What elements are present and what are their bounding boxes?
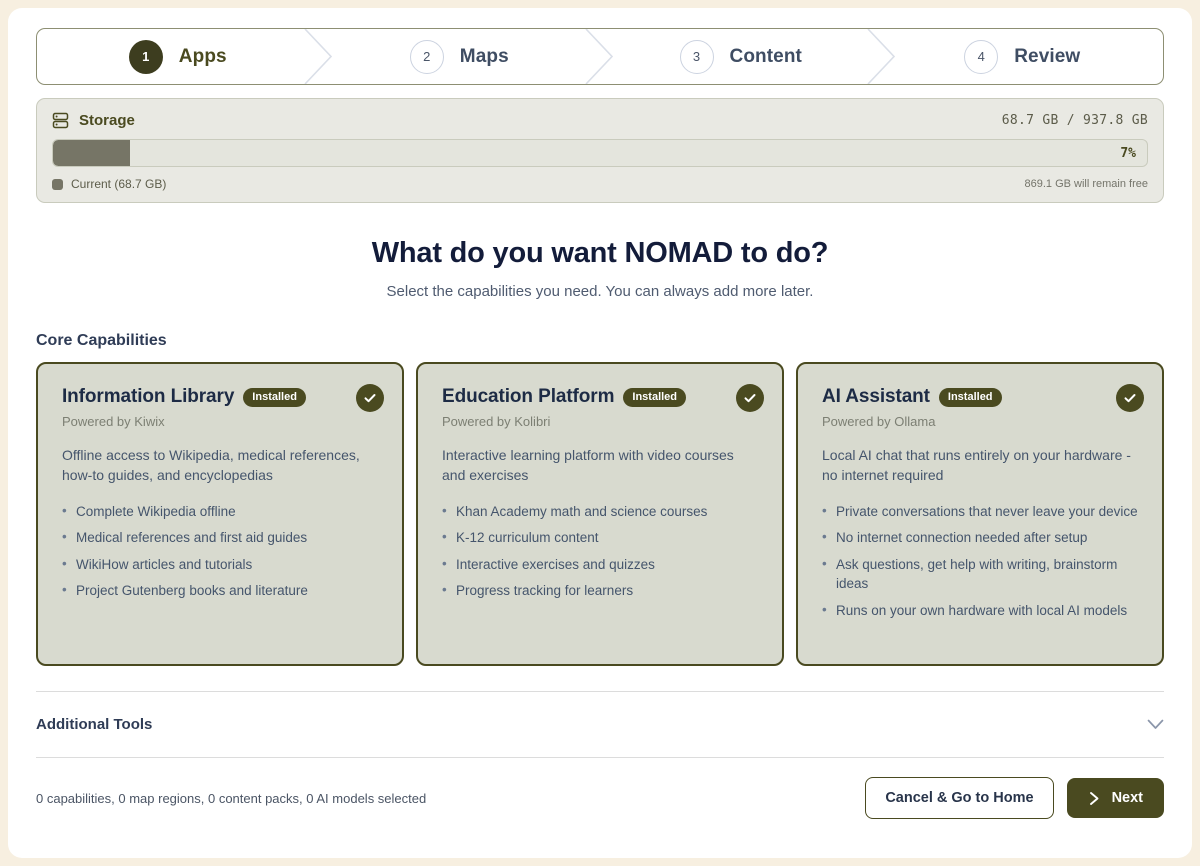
status-badge-installed: Installed [243,388,306,407]
step-label-review: Review [1014,46,1080,68]
card-description: Interactive learning platform with video… [442,446,760,486]
card-header: AI Assistant Installed [822,386,1140,408]
storage-title-group: Storage [52,112,135,129]
footer-button-group: Cancel & Go to Home Next [865,777,1164,819]
list-item: Interactive exercises and quizzes [442,555,760,575]
step-maps[interactable]: 2 Maps [319,29,601,84]
storage-percent-label: 7% [1120,146,1136,161]
card-description: Offline access to Wikipedia, medical ref… [62,446,380,486]
list-item: Complete Wikipedia offline [62,502,380,522]
list-item: Ask questions, get help with writing, br… [822,555,1140,594]
step-label-apps: Apps [179,46,227,68]
additional-tools-label: Additional Tools [36,716,152,733]
selected-check-badge[interactable] [1116,384,1144,412]
capability-card-ai-assistant[interactable]: AI Assistant Installed Powered by Ollama… [796,362,1164,666]
next-button-label: Next [1112,790,1143,806]
card-header: Information Library Installed [62,386,380,408]
capability-card-information-library[interactable]: Information Library Installed Powered by… [36,362,404,666]
selected-check-badge[interactable] [736,384,764,412]
storage-legend: Current (68.7 GB) [52,177,166,191]
check-icon [1122,390,1138,406]
step-label-content: Content [730,46,802,68]
card-description: Local AI chat that runs entirely on your… [822,446,1140,486]
next-button[interactable]: Next [1067,778,1164,818]
storage-panel: Storage 68.7 GB / 937.8 GB 7% Current (6… [36,98,1164,203]
legend-label-current: Current (68.7 GB) [71,177,166,191]
cancel-go-home-button[interactable]: Cancel & Go to Home [865,777,1053,819]
storage-progress-fill [53,140,130,166]
check-icon [742,390,758,406]
step-number-2: 2 [410,40,444,74]
capability-card-grid: Information Library Installed Powered by… [36,362,1164,666]
core-capabilities-heading: Core Capabilities [36,332,1164,350]
check-icon [362,390,378,406]
list-item: No internet connection needed after setu… [822,528,1140,548]
selection-summary: 0 capabilities, 0 map regions, 0 content… [36,791,426,806]
setup-wizard-panel: 1 Apps 2 Maps 3 Content 4 Rev [8,8,1192,858]
wizard-stepper: 1 Apps 2 Maps 3 Content 4 Rev [36,28,1164,85]
card-feature-list: Khan Academy math and science courses K-… [442,502,760,601]
legend-swatch-current [52,179,63,190]
step-number-4: 4 [964,40,998,74]
card-powered-by: Powered by Kiwix [62,414,380,429]
card-feature-list: Private conversations that never leave y… [822,502,1140,621]
step-apps[interactable]: 1 Apps [37,29,319,84]
status-badge-installed: Installed [939,388,1002,407]
additional-tools-accordion[interactable]: Additional Tools [36,691,1164,733]
storage-icon [52,112,69,129]
wizard-footer: 0 capabilities, 0 map regions, 0 content… [36,757,1164,819]
step-label-maps: Maps [460,46,509,68]
card-title: Education Platform [442,386,614,408]
list-item: WikiHow articles and tutorials [62,555,380,575]
card-powered-by: Powered by Ollama [822,414,1140,429]
list-item: Progress tracking for learners [442,581,760,601]
storage-header: Storage 68.7 GB / 937.8 GB [52,112,1148,129]
step-number-1: 1 [129,40,163,74]
list-item: Project Gutenberg books and literature [62,581,380,601]
step-number-3: 3 [680,40,714,74]
page-subtitle: Select the capabilities you need. You ca… [36,283,1164,300]
card-title: Information Library [62,386,234,408]
step-review[interactable]: 4 Review [882,29,1164,84]
page-title: What do you want NOMAD to do? [36,237,1164,270]
status-badge-installed: Installed [623,388,686,407]
list-item: K-12 curriculum content [442,528,760,548]
card-powered-by: Powered by Kolibri [442,414,760,429]
storage-remaining-text: 869.1 GB will remain free [1025,178,1149,190]
card-header: Education Platform Installed [442,386,760,408]
selected-check-badge[interactable] [356,384,384,412]
list-item: Medical references and first aid guides [62,528,380,548]
chevron-right-icon [1088,791,1101,806]
storage-title: Storage [79,112,135,129]
chevron-down-icon[interactable] [1147,719,1164,730]
step-content[interactable]: 3 Content [600,29,882,84]
storage-progress-bar: 7% [52,139,1148,167]
list-item: Khan Academy math and science courses [442,502,760,522]
card-feature-list: Complete Wikipedia offline Medical refer… [62,502,380,601]
storage-amount: 68.7 GB / 937.8 GB [1002,113,1148,128]
list-item: Private conversations that never leave y… [822,502,1140,522]
card-title: AI Assistant [822,386,930,408]
list-item: Runs on your own hardware with local AI … [822,601,1140,621]
storage-footer: Current (68.7 GB) 869.1 GB will remain f… [52,177,1148,191]
capability-card-education-platform[interactable]: Education Platform Installed Powered by … [416,362,784,666]
